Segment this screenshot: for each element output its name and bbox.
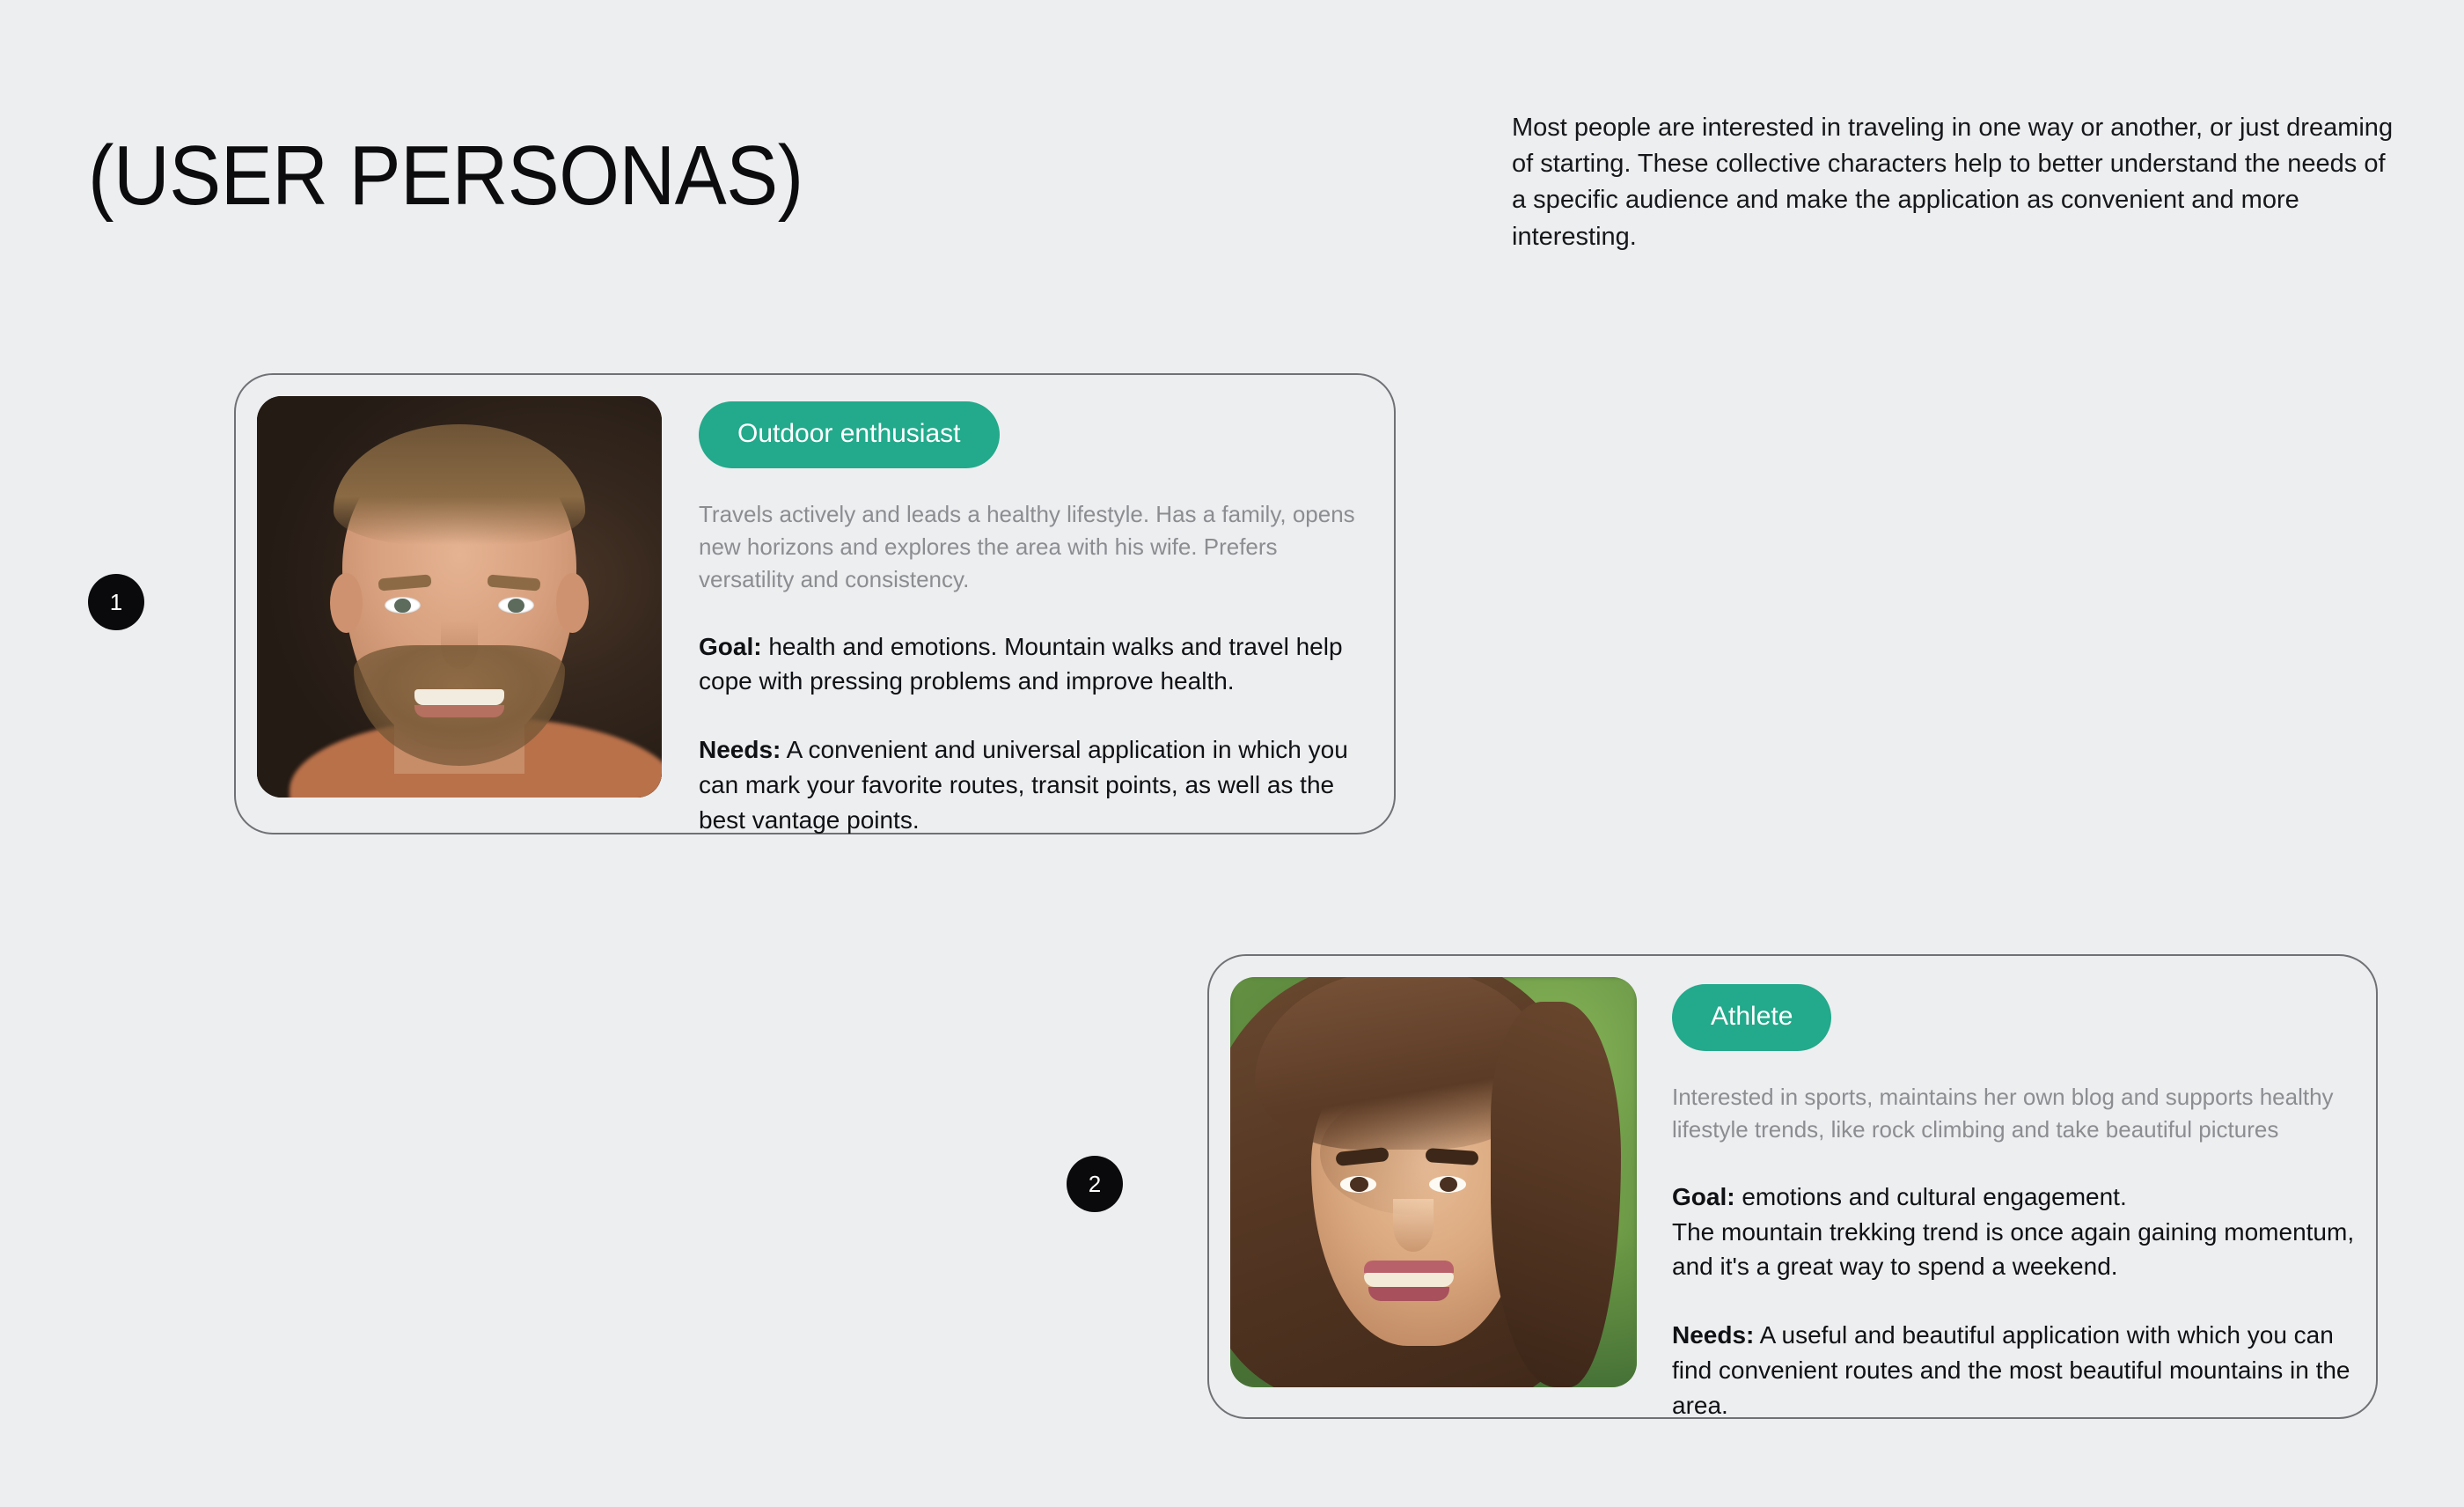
goal-label-2: Goal: <box>1672 1183 1735 1210</box>
photo-teeth <box>414 689 503 705</box>
goal-text-2: emotions and cultural engagement. <box>1735 1183 2127 1210</box>
persona-card-1[interactable]: Outdoor enthusiast Travels actively and … <box>234 373 1396 834</box>
needs-text-1: A convenient and universal application i… <box>699 736 1348 834</box>
persona-summary-2: Interested in sports, maintains her own … <box>1672 1081 2355 1146</box>
photo-nose <box>1393 1199 1434 1253</box>
persona-card-2[interactable]: Athlete Interested in sports, maintains … <box>1207 954 2378 1419</box>
photo-lip-bottom <box>1368 1287 1449 1301</box>
photo-iris-left <box>394 599 410 613</box>
persona-body-1: Outdoor enthusiast Travels actively and … <box>662 396 1373 837</box>
page-title: (USER PERSONAS) <box>88 134 803 218</box>
persona-photo-1 <box>257 396 662 798</box>
goal-text-2-line2: The mountain trekking trend is once agai… <box>1672 1215 2355 1285</box>
photo-lip <box>414 705 503 717</box>
photo-iris-right <box>508 599 524 613</box>
persona-summary-1: Travels actively and leads a healthy lif… <box>699 498 1368 596</box>
persona-goal-1: Goal: health and emotions. Mountain walk… <box>699 629 1373 700</box>
persona-photo-2 <box>1230 977 1637 1387</box>
photo-iris-left <box>1350 1177 1368 1192</box>
needs-text-2: A useful and beautiful application with … <box>1672 1321 2350 1419</box>
goal-label-1: Goal: <box>699 633 762 660</box>
persona-goal-2: Goal: emotions and cultural engagement.T… <box>1672 1180 2355 1284</box>
persona-needs-2: Needs: A useful and beautiful applicatio… <box>1672 1318 2355 1422</box>
user-personas-page: (USER PERSONAS) Most people are interest… <box>0 0 2464 1507</box>
persona-body-2: Athlete Interested in sports, maintains … <box>1637 977 2355 1422</box>
needs-label-1: Needs: <box>699 736 781 763</box>
needs-label-2: Needs: <box>1672 1321 1754 1349</box>
photo-ear-left <box>330 573 363 633</box>
photo-hair-side <box>1491 1002 1621 1387</box>
persona-role-badge-1[interactable]: Outdoor enthusiast <box>699 401 1000 468</box>
persona-role-badge-2[interactable]: Athlete <box>1672 984 1831 1051</box>
photo-ear-right <box>556 573 589 633</box>
persona-number-badge-1: 1 <box>88 574 144 630</box>
goal-text-1: health and emotions. Mountain walks and … <box>699 633 1343 695</box>
persona-needs-1: Needs: A convenient and universal applic… <box>699 732 1373 837</box>
persona-number-badge-2: 2 <box>1067 1156 1123 1212</box>
intro-paragraph: Most people are interested in traveling … <box>1512 110 2394 255</box>
photo-teeth <box>1364 1273 1454 1288</box>
photo-lip-top <box>1364 1261 1454 1273</box>
